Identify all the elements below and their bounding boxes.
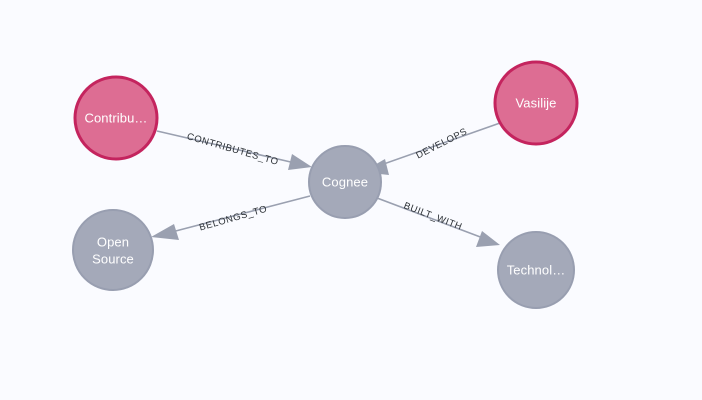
edge-arrowhead-contributes-to: [288, 154, 312, 170]
graph-canvas[interactable]: CONTRIBUTES_TO DEVELOPS BELONGS_TO BUILT…: [0, 0, 702, 400]
edge-contributes-to[interactable]: CONTRIBUTES_TO: [157, 131, 312, 170]
edge-label-develops: DEVELOPS: [414, 126, 469, 161]
node-label-open-source-line2: Source: [92, 251, 134, 266]
edge-arrowhead-belongs-to: [151, 224, 179, 240]
node-label-contributor: Contribu…: [84, 110, 147, 125]
node-label-technology: Technol…: [507, 262, 566, 277]
node-cognee[interactable]: Cognee: [309, 146, 381, 218]
node-contributor[interactable]: Contribu…: [75, 77, 157, 159]
edge-arrowhead-built-with: [476, 231, 500, 247]
node-vasilije[interactable]: Vasilije: [495, 62, 577, 144]
edge-built-with[interactable]: BUILT_WITH: [377, 198, 500, 247]
node-label-open-source-line1: Open: [97, 234, 129, 249]
node-label-cognee: Cognee: [322, 174, 368, 189]
node-open-source[interactable]: Open Source: [73, 210, 153, 290]
edge-label-belongs-to: BELONGS_TO: [198, 204, 269, 234]
edge-belongs-to[interactable]: BELONGS_TO: [151, 196, 310, 240]
node-circle-open-source[interactable]: [73, 210, 153, 290]
graph-visualization[interactable]: CONTRIBUTES_TO DEVELOPS BELONGS_TO BUILT…: [0, 0, 702, 400]
node-technology[interactable]: Technol…: [498, 232, 574, 308]
node-label-vasilije: Vasilije: [515, 95, 556, 110]
edge-label-contributes-to: CONTRIBUTES_TO: [186, 131, 280, 168]
edge-label-built-with: BUILT_WITH: [402, 200, 464, 232]
edge-develops[interactable]: DEVELOPS: [362, 123, 500, 175]
